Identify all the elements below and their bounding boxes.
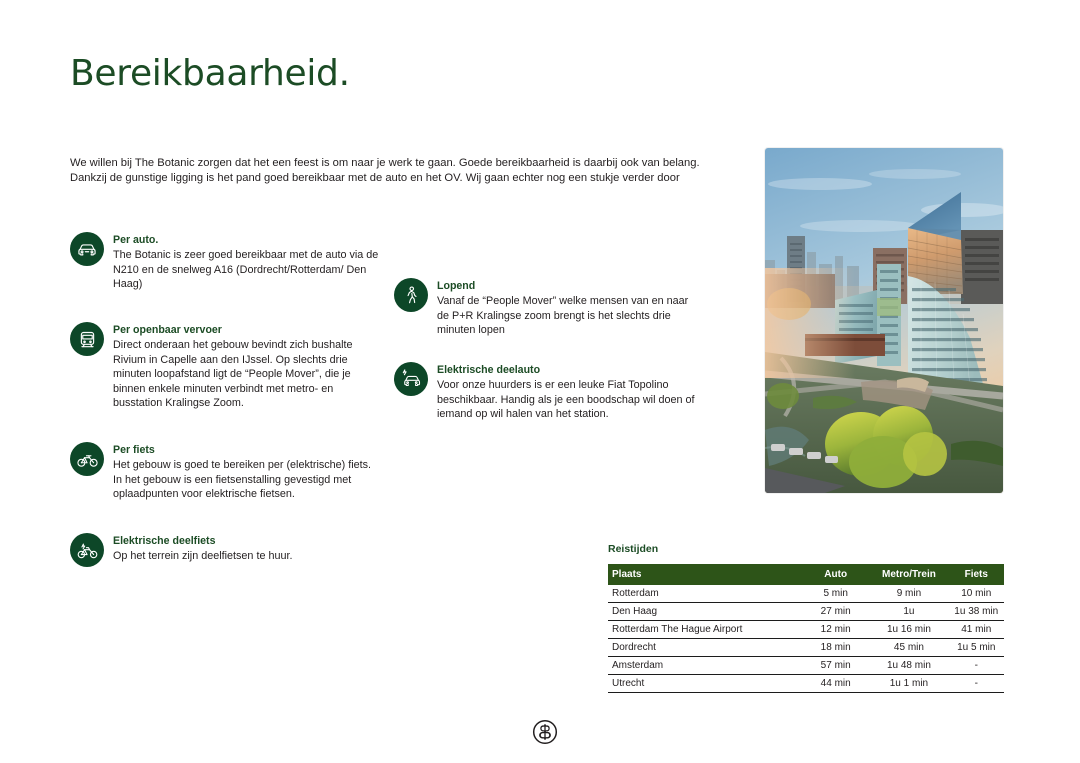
- table-row: Amsterdam 57 min 1u 48 min -: [608, 657, 1004, 675]
- travel-table-wrapper: Plaats Auto Metro/Trein Fiets Rotterdam …: [608, 564, 1004, 693]
- column-header-auto: Auto: [802, 564, 869, 585]
- cell-auto: 18 min: [802, 639, 869, 657]
- cell-auto: 12 min: [802, 621, 869, 639]
- feature-per-fiets: Per fiets Het gebouw is goed te bereiken…: [70, 442, 380, 502]
- table-row: Rotterdam 5 min 9 min 10 min: [608, 585, 1004, 603]
- electric-bicycle-icon: [70, 533, 104, 567]
- feature-lopend: Lopend Vanaf de “People Mover” welke men…: [394, 278, 694, 338]
- cell-metro-trein: 1u: [869, 603, 948, 621]
- cell-metro-trein: 1u 48 min: [869, 657, 948, 675]
- intro-line-1: We willen bij The Botanic zorgen dat het…: [70, 156, 715, 171]
- column-header-plaats: Plaats: [608, 564, 802, 585]
- cell-fiets: -: [949, 675, 1004, 693]
- intro-paragraph: We willen bij The Botanic zorgen dat het…: [70, 156, 715, 186]
- page-title: Bereikbaarheid.: [70, 53, 350, 94]
- cell-plaats: Amsterdam: [608, 657, 802, 675]
- cell-metro-trein: 1u 1 min: [869, 675, 948, 693]
- feature-elektrische-deelauto: Elektrische deelauto Voor onze huurders …: [394, 362, 699, 422]
- bicycle-icon: [70, 442, 104, 476]
- cell-auto: 44 min: [802, 675, 869, 693]
- cell-plaats: Dordrecht: [608, 639, 802, 657]
- feature-elektrische-deelfiets: Elektrische deelfiets Op het terrein zij…: [70, 533, 380, 567]
- cell-fiets: -: [949, 657, 1004, 675]
- feature-title: Elektrische deelauto: [437, 363, 699, 377]
- intro-line-2: Dankzij de gunstige ligging is het pand …: [70, 171, 715, 186]
- cell-metro-trein: 9 min: [869, 585, 948, 603]
- cell-metro-trein: 1u 16 min: [869, 621, 948, 639]
- bb-monogram-logo: [531, 718, 559, 746]
- table-head: Plaats Auto Metro/Trein Fiets: [608, 564, 1004, 585]
- cell-auto: 27 min: [802, 603, 869, 621]
- cell-fiets: 10 min: [949, 585, 1004, 603]
- table-row: Dordrecht 18 min 45 min 1u 5 min: [608, 639, 1004, 657]
- cell-metro-trein: 45 min: [869, 639, 948, 657]
- pedestrian-icon: [394, 278, 428, 312]
- feature-text: Vanaf de “People Mover” welke mensen van…: [437, 294, 694, 338]
- feature-title: Per fiets: [113, 443, 380, 457]
- feature-per-auto: Per auto. The Botanic is zeer goed berei…: [70, 232, 380, 292]
- cell-plaats: Rotterdam The Hague Airport: [608, 621, 802, 639]
- feature-title: Per openbaar vervoer: [113, 323, 382, 337]
- cell-fiets: 41 min: [949, 621, 1004, 639]
- cell-auto: 5 min: [802, 585, 869, 603]
- feature-title: Lopend: [437, 279, 694, 293]
- table-header-row: Plaats Auto Metro/Trein Fiets: [608, 564, 1004, 585]
- cell-fiets: 1u 5 min: [949, 639, 1004, 657]
- feature-title: Elektrische deelfiets: [113, 534, 292, 548]
- feature-text: Het gebouw is goed te bereiken per (elek…: [113, 458, 380, 502]
- cell-plaats: Rotterdam: [608, 585, 802, 603]
- tram-icon: [70, 322, 104, 356]
- feature-text: The Botanic is zeer goed bereikbaar met …: [113, 248, 380, 292]
- brochure-page: Bereikbaarheid. We willen bij The Botani…: [0, 0, 1080, 763]
- travel-table-label: Reistijden: [608, 543, 658, 555]
- column-header-fiets: Fiets: [949, 564, 1004, 585]
- cell-fiets: 1u 38 min: [949, 603, 1004, 621]
- table-row: Den Haag 27 min 1u 1u 38 min: [608, 603, 1004, 621]
- feature-text: Direct onderaan het gebouw bevindt zich …: [113, 338, 382, 411]
- car-icon: [70, 232, 104, 266]
- building-photo: [765, 148, 1003, 493]
- cell-plaats: Den Haag: [608, 603, 802, 621]
- travel-times-table: Plaats Auto Metro/Trein Fiets Rotterdam …: [608, 564, 1004, 693]
- cell-plaats: Utrecht: [608, 675, 802, 693]
- feature-title: Per auto.: [113, 233, 380, 247]
- table-row: Rotterdam The Hague Airport 12 min 1u 16…: [608, 621, 1004, 639]
- feature-text: Op het terrein zijn deelfietsen te huur.: [113, 549, 292, 564]
- feature-openbaar-vervoer: Per openbaar vervoer Direct onderaan het…: [70, 322, 382, 411]
- table-row: Utrecht 44 min 1u 1 min -: [608, 675, 1004, 693]
- column-header-metro-trein: Metro/Trein: [869, 564, 948, 585]
- electric-car-icon: [394, 362, 428, 396]
- cell-auto: 57 min: [802, 657, 869, 675]
- feature-text: Voor onze huurders is er een leuke Fiat …: [437, 378, 699, 422]
- table-body: Rotterdam 5 min 9 min 10 min Den Haag 27…: [608, 585, 1004, 693]
